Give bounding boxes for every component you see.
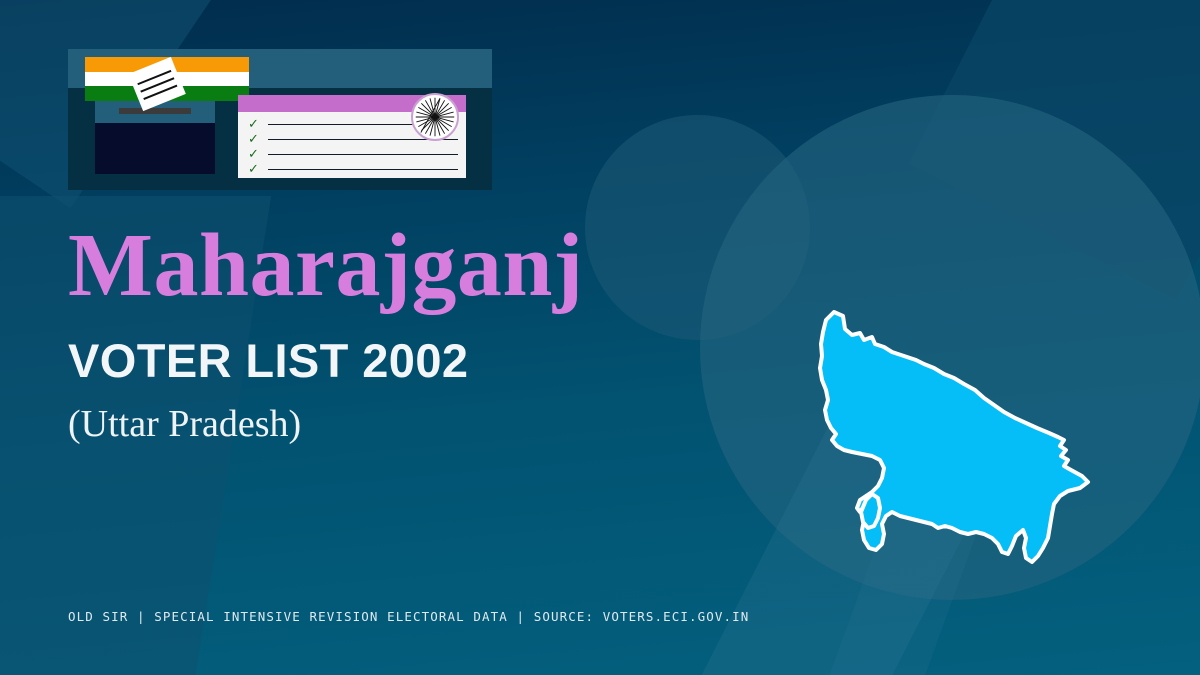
page-title: Maharajganj [68,218,583,314]
check-icon: ✓ [248,133,261,146]
slide-canvas: ✓ ✓ ✓ ✓ [0,0,1200,675]
checklist-line [268,154,458,156]
check-icon: ✓ [248,148,261,161]
ballot-box-slot [119,108,191,114]
footer-caption: OLD SIR | SPECIAL INTENSIVE REVISION ELE… [68,608,749,626]
checklist-row: ✓ [238,162,466,177]
checklist-line [268,169,458,171]
check-icon: ✓ [248,163,261,176]
ballot-line [137,70,171,85]
ashoka-chakra-icon [411,93,459,141]
page-region: (Uttar Pradesh) [68,400,301,448]
ballot-box-body [95,123,215,174]
uttar-pradesh-map [812,300,1112,570]
page-subtitle: VOTER LIST 2002 [68,334,468,388]
check-icon: ✓ [248,118,261,131]
checklist-row: ✓ [238,147,466,162]
